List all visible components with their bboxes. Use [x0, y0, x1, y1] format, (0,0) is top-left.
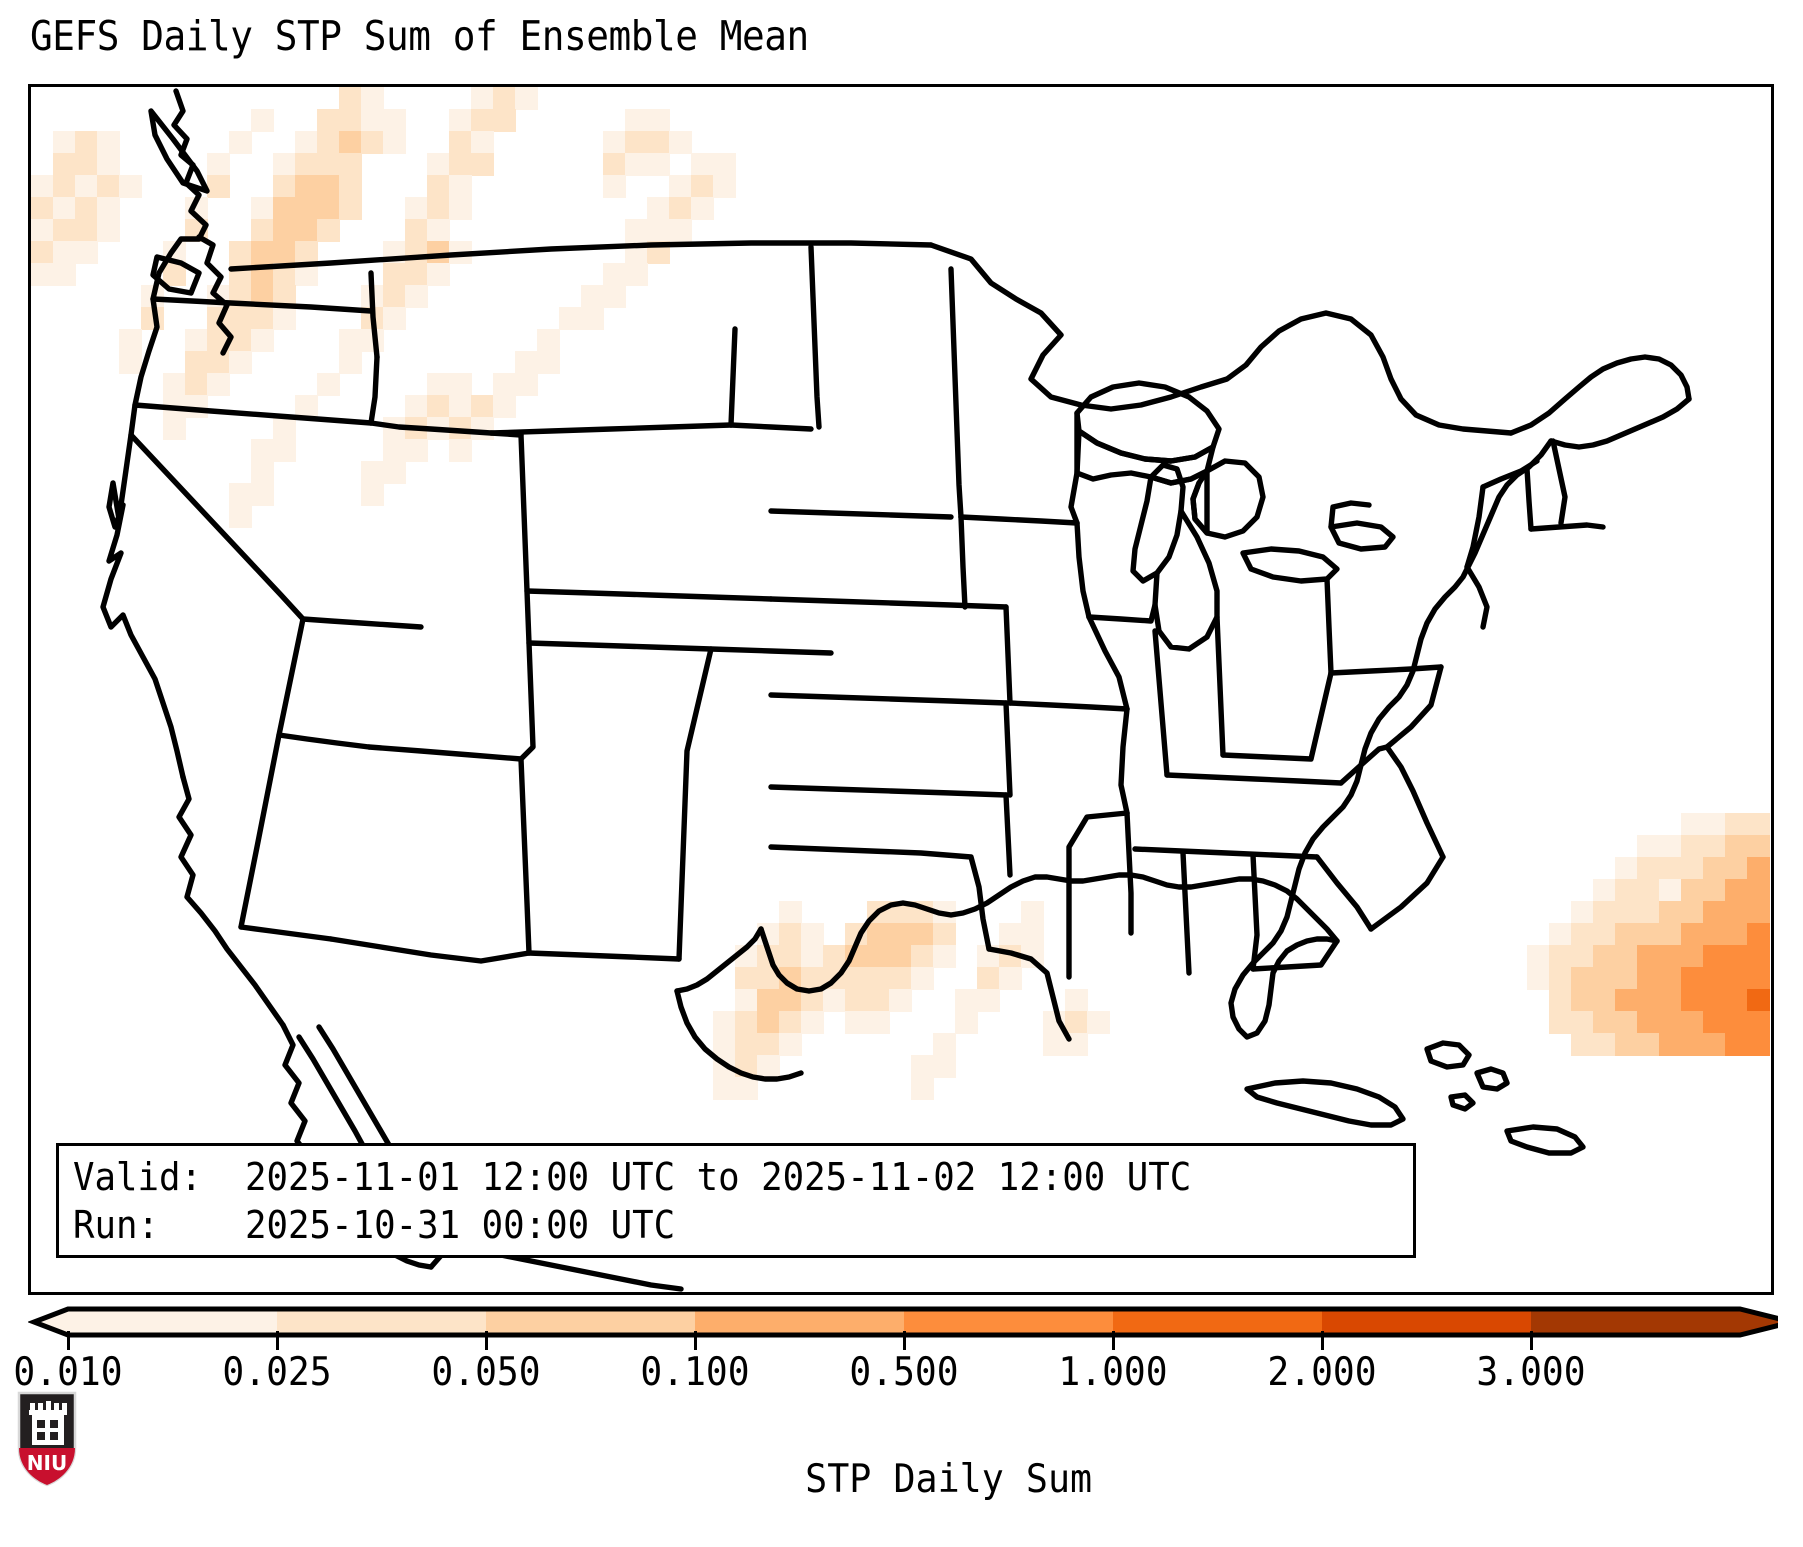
- border-mn-wi: [1071, 413, 1077, 523]
- border-nj: [1467, 567, 1487, 627]
- border-nh-me: [1553, 441, 1565, 523]
- bahamas-1: [1427, 1043, 1469, 1067]
- border-id-wa: [371, 273, 377, 357]
- border-wa-or: [153, 299, 371, 311]
- border-mn-ia: [961, 517, 1077, 523]
- border-ne-ks: [771, 695, 1006, 703]
- colorbar-tick: [1112, 1331, 1115, 1350]
- colorbar-tick-labels: 0.0100.0250.0500.1000.5001.0002.0003.000: [0, 1353, 1803, 1399]
- border-wy-mt: [491, 425, 731, 433]
- border-nm-tx: [529, 953, 679, 959]
- border-ok-tx: [771, 847, 989, 949]
- colorbar-tick-label: 2.000: [1267, 1353, 1376, 1392]
- border-or-ca: [135, 405, 371, 423]
- texas-coast: [677, 929, 761, 991]
- lake-superior: [1077, 383, 1219, 461]
- colorbar-tick: [1321, 1331, 1324, 1350]
- bahamas-3: [1451, 1095, 1473, 1109]
- colorbar-tick-label: 3.000: [1476, 1353, 1585, 1392]
- border-mt-wy: [731, 425, 811, 429]
- mexico-east-coast: [677, 991, 801, 1079]
- new-england-coast: [1511, 357, 1689, 433]
- border-id-or: [371, 357, 377, 423]
- colorbar-tick: [694, 1331, 697, 1350]
- border-mt-nd-vert: [811, 247, 819, 427]
- border-ut-wy-co: [521, 435, 533, 759]
- niu-logo: NIU: [16, 1390, 78, 1488]
- cuba: [1247, 1081, 1403, 1125]
- border-nd-mn: [951, 269, 961, 517]
- colorbar-tick-label: 0.500: [849, 1353, 958, 1392]
- border-oh-wv-ky: [1223, 673, 1331, 759]
- border-sd-mn-ia: [961, 517, 965, 607]
- border-sc-nc: [1371, 857, 1443, 929]
- us-canada-border-lakes: [931, 245, 1511, 433]
- valid-time-text: Valid: 2025-11-01 12:00 UTC to 2025-11-0…: [73, 1158, 1191, 1196]
- border-az-nm: [521, 759, 529, 953]
- border-ut-az: [369, 747, 521, 759]
- colorbar-tick: [1530, 1331, 1533, 1350]
- border-ca-az: [241, 927, 331, 939]
- border-co-nm: [529, 643, 831, 653]
- colorbar-axis-label-text: STP Daily Sum: [805, 1457, 1092, 1502]
- border-ar-ms: [1127, 813, 1131, 933]
- bahamas-2: [1477, 1069, 1507, 1089]
- colorbar-tick: [485, 1331, 488, 1350]
- border-ne-ia-mo: [1006, 607, 1010, 703]
- border-tx-la: [989, 949, 1069, 1039]
- border-il-in: [1155, 631, 1167, 775]
- border-ks-mo: [1006, 703, 1010, 795]
- border-sd-ne: [771, 599, 1006, 607]
- border-ok-ar: [1006, 795, 1010, 875]
- colorbar-axis-label: STP Daily Sum: [0, 1412, 1803, 1547]
- border-ar-la: [1069, 813, 1127, 977]
- map-clip: [31, 87, 1771, 1292]
- border-nd-sd: [771, 511, 951, 517]
- map-panel: [28, 84, 1774, 1295]
- colorbar-tick-label: 0.100: [640, 1353, 749, 1392]
- puget-sound: [199, 237, 231, 353]
- border-ms-al: [1183, 853, 1189, 973]
- border-ia-mo: [1010, 703, 1127, 709]
- us-canada-border-west: [231, 243, 931, 269]
- atlantic-coast: [1231, 441, 1551, 1037]
- border-mo-ar: [1121, 709, 1127, 813]
- colorbar-tick-label: 0.050: [431, 1353, 540, 1392]
- hispaniola: [1507, 1127, 1583, 1153]
- border-tn-ms-al-ga: [1135, 849, 1317, 857]
- colorbar-tick: [276, 1331, 279, 1350]
- border-nm-ok: [679, 649, 711, 959]
- valid-run-info-box: Valid: 2025-11-01 12:00 UTC to 2025-11-0…: [56, 1143, 1416, 1258]
- colorbar-tick-label: 0.025: [222, 1353, 331, 1392]
- border-ia-wi-il: [1077, 523, 1089, 617]
- figure-canvas: GEFS Daily STP Sum of Ensemble Mean: [0, 0, 1803, 1500]
- run-time-text: Run: 2025-10-31 00:00 UTC: [73, 1206, 675, 1244]
- border-ma-ct-ri: [1531, 525, 1603, 529]
- border-nc-va: [1387, 747, 1443, 857]
- border-wi-il: [1089, 605, 1155, 621]
- coastlines-and-borders: [103, 91, 1689, 1289]
- figure-title: GEFS Daily STP Sum of Ensemble Mean: [30, 16, 809, 57]
- border-pa-md-wv: [1331, 667, 1441, 673]
- border-al-ga: [1253, 855, 1257, 969]
- border-az-mx: [331, 939, 529, 961]
- lake-erie: [1243, 549, 1337, 581]
- border-mt-nd: [731, 329, 735, 425]
- california-coast: [179, 777, 283, 1025]
- pacific-coast: [103, 91, 206, 777]
- vancouver-island: [151, 111, 207, 191]
- colorbar-tick-label: 0.010: [13, 1353, 122, 1392]
- border-wy-sd-ne: [527, 591, 771, 599]
- logo-niu-text: NIU: [27, 1451, 67, 1475]
- border-ks-ok: [771, 787, 1006, 795]
- border-va-wv-md: [1387, 667, 1441, 747]
- colorbar-tick: [903, 1331, 906, 1350]
- border-nv-az: [279, 735, 369, 747]
- border-vt-nh: [1527, 469, 1531, 529]
- map-geography: [31, 87, 1771, 1292]
- border-in-oh: [1217, 617, 1223, 755]
- colorbar-tick-label: 1.000: [1058, 1353, 1167, 1392]
- border-ga-sc: [1317, 857, 1371, 929]
- border-nv-ut: [303, 619, 421, 627]
- lake-ontario: [1331, 523, 1393, 549]
- border-il-mo: [1089, 617, 1127, 709]
- colorbar-tick: [67, 1331, 70, 1350]
- border-ky-tn: [1167, 775, 1341, 783]
- maine-coast: [1551, 399, 1689, 447]
- border-oh-pa: [1327, 579, 1331, 673]
